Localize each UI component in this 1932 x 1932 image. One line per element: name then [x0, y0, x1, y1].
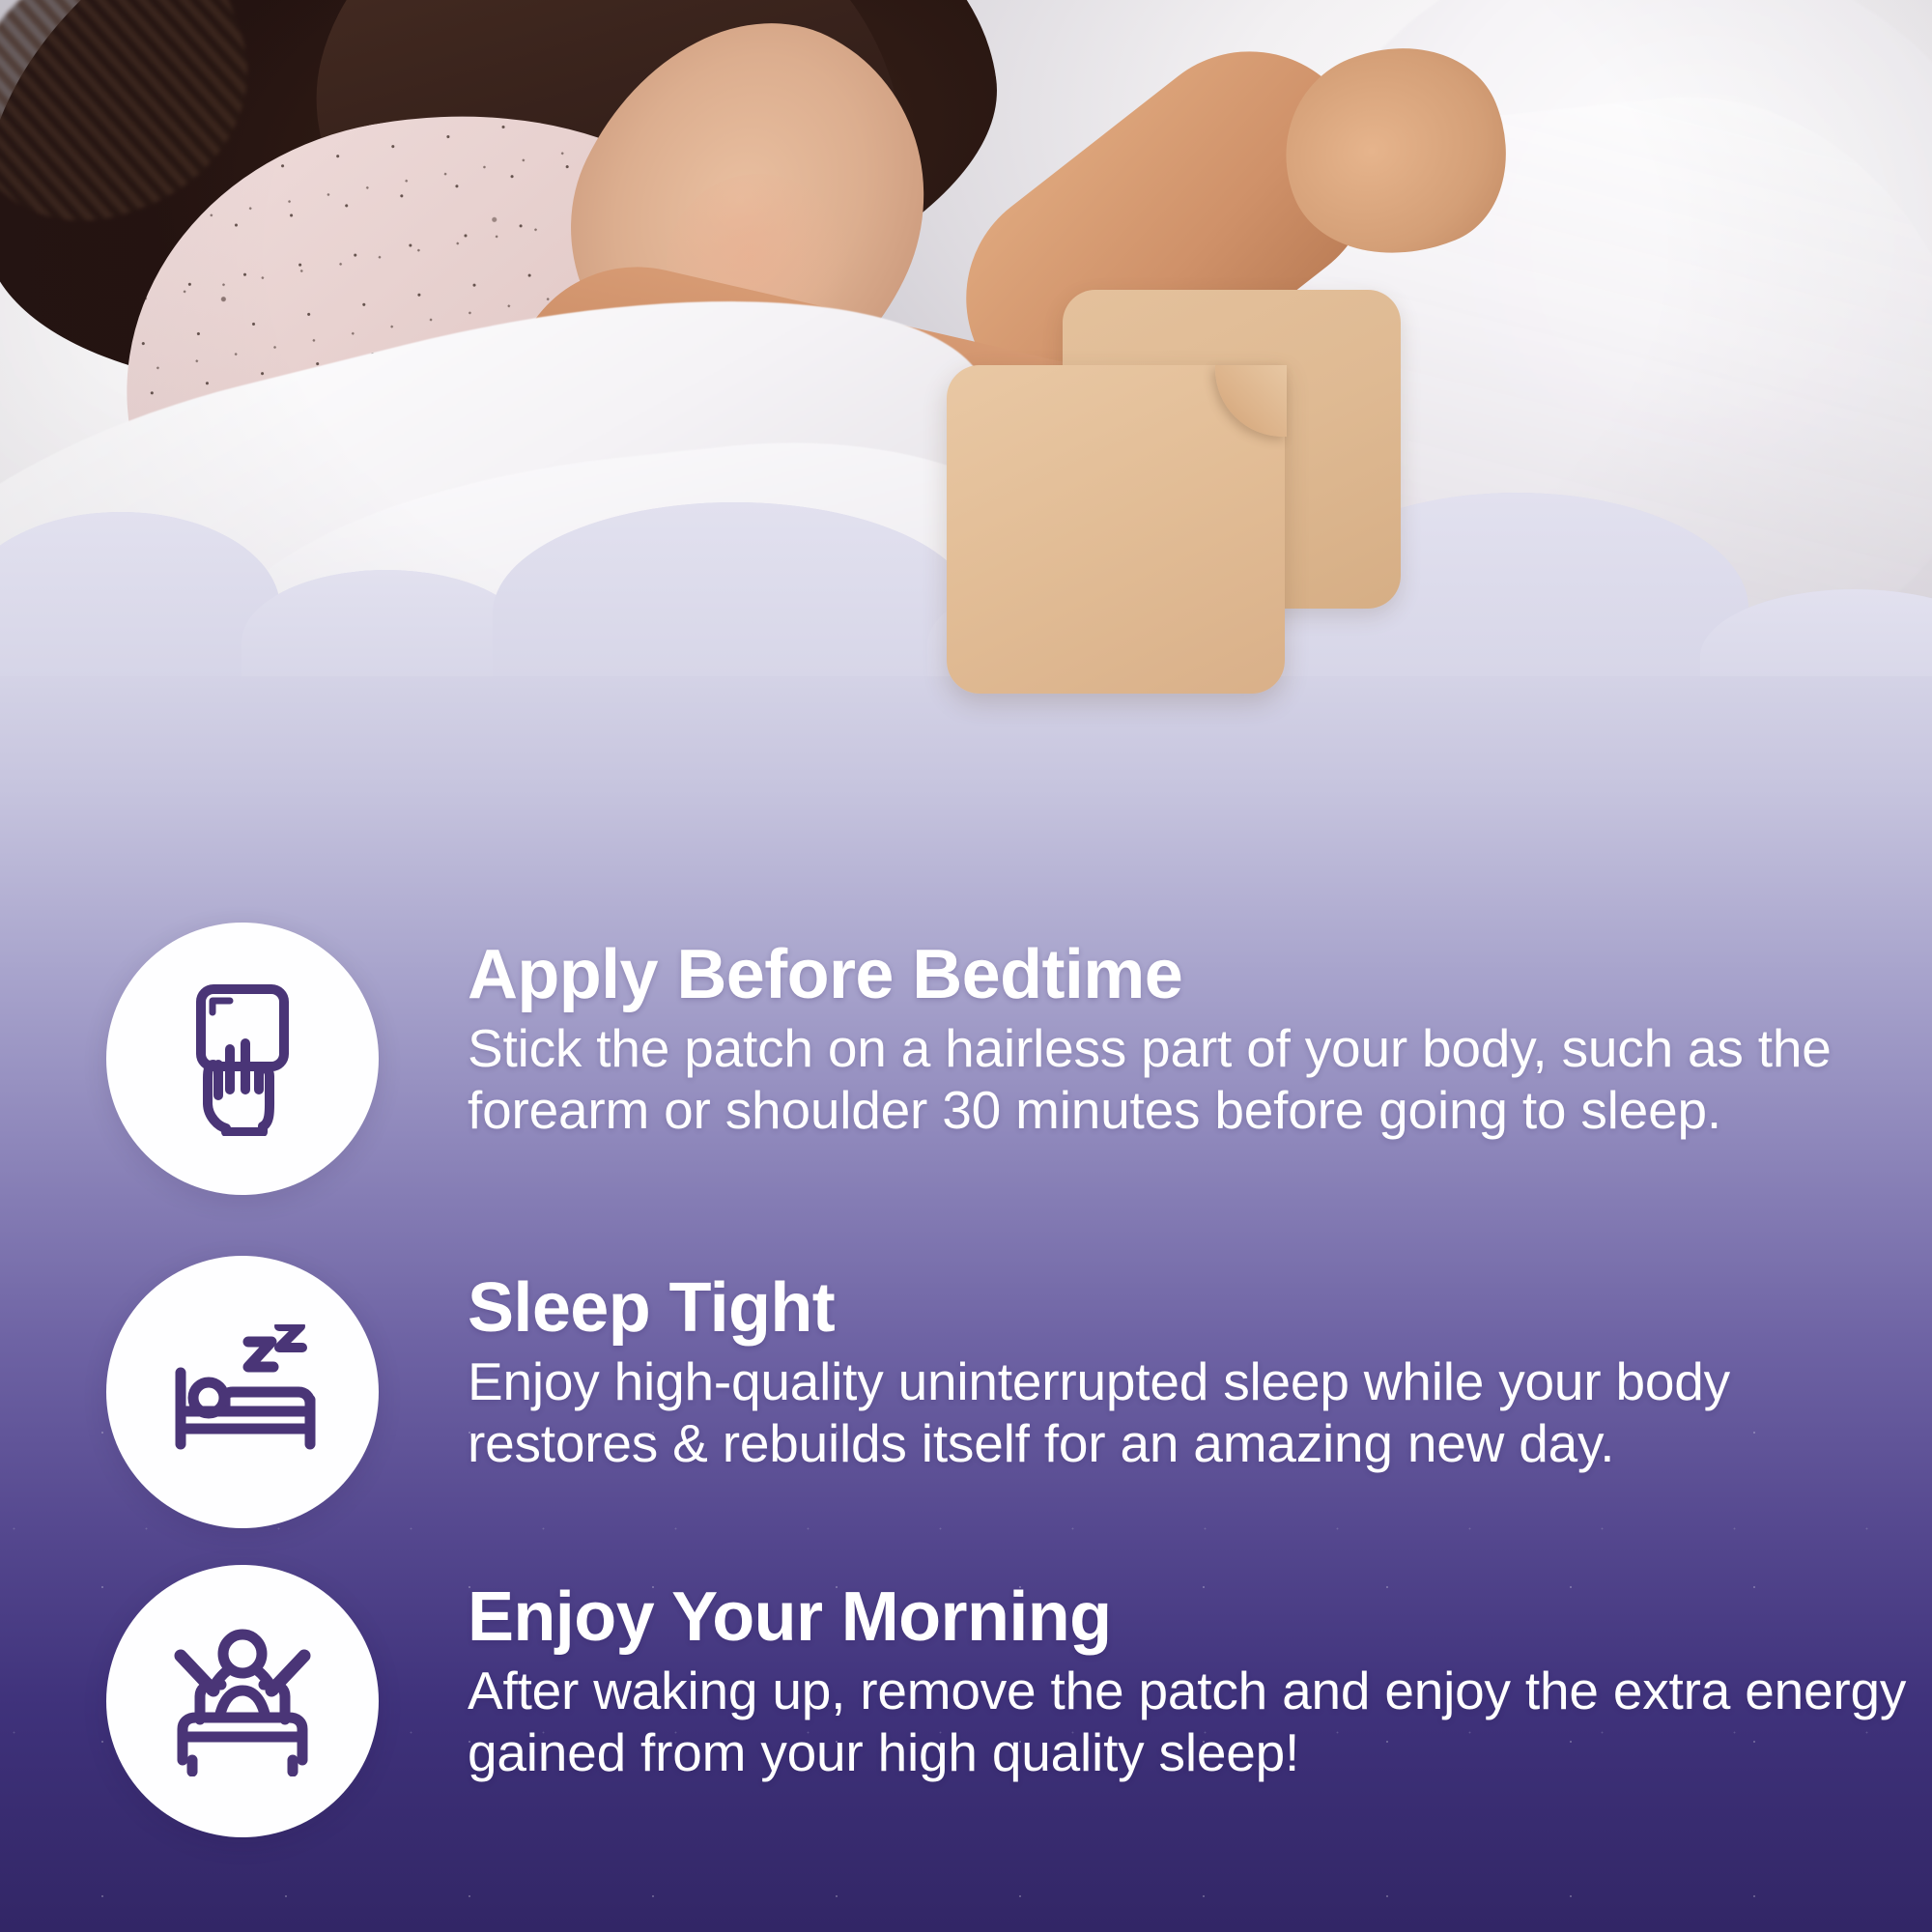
step-3-description: After waking up, remove the patch and en…	[468, 1660, 1926, 1784]
step-2-icon-badge	[106, 1256, 379, 1528]
step-2-description: Enjoy high-quality uninterrupted sleep w…	[468, 1350, 1926, 1475]
step-1-title: Apply Before Bedtime	[468, 940, 1926, 1009]
step-3-copy: Enjoy Your Morning After waking up, remo…	[468, 1565, 1926, 1784]
step-item-1: Apply Before Bedtime Stick the patch on …	[106, 923, 1926, 1195]
person-stretching-in-bed-icon	[165, 1627, 320, 1776]
step-2-title: Sleep Tight	[468, 1273, 1926, 1343]
step-3-title: Enjoy Your Morning	[468, 1582, 1926, 1652]
step-item-3: Enjoy Your Morning After waking up, remo…	[106, 1565, 1926, 1837]
step-1-description: Stick the patch on a hairless part of yo…	[468, 1017, 1926, 1142]
step-3-icon-badge	[106, 1565, 379, 1837]
step-item-2: Sleep Tight Enjoy high-quality uninterru…	[106, 1256, 1926, 1528]
steps-list: Apply Before Bedtime Stick the patch on …	[0, 0, 1932, 1932]
hand-applying-patch-icon	[170, 981, 315, 1136]
step-2-copy: Sleep Tight Enjoy high-quality uninterru…	[468, 1256, 1926, 1475]
bed-sleeping-zzz-icon	[165, 1324, 320, 1460]
step-1-copy: Apply Before Bedtime Stick the patch on …	[468, 923, 1926, 1142]
step-1-icon-badge	[106, 923, 379, 1195]
promo-poster: Apply Before Bedtime Stick the patch on …	[0, 0, 1932, 1932]
